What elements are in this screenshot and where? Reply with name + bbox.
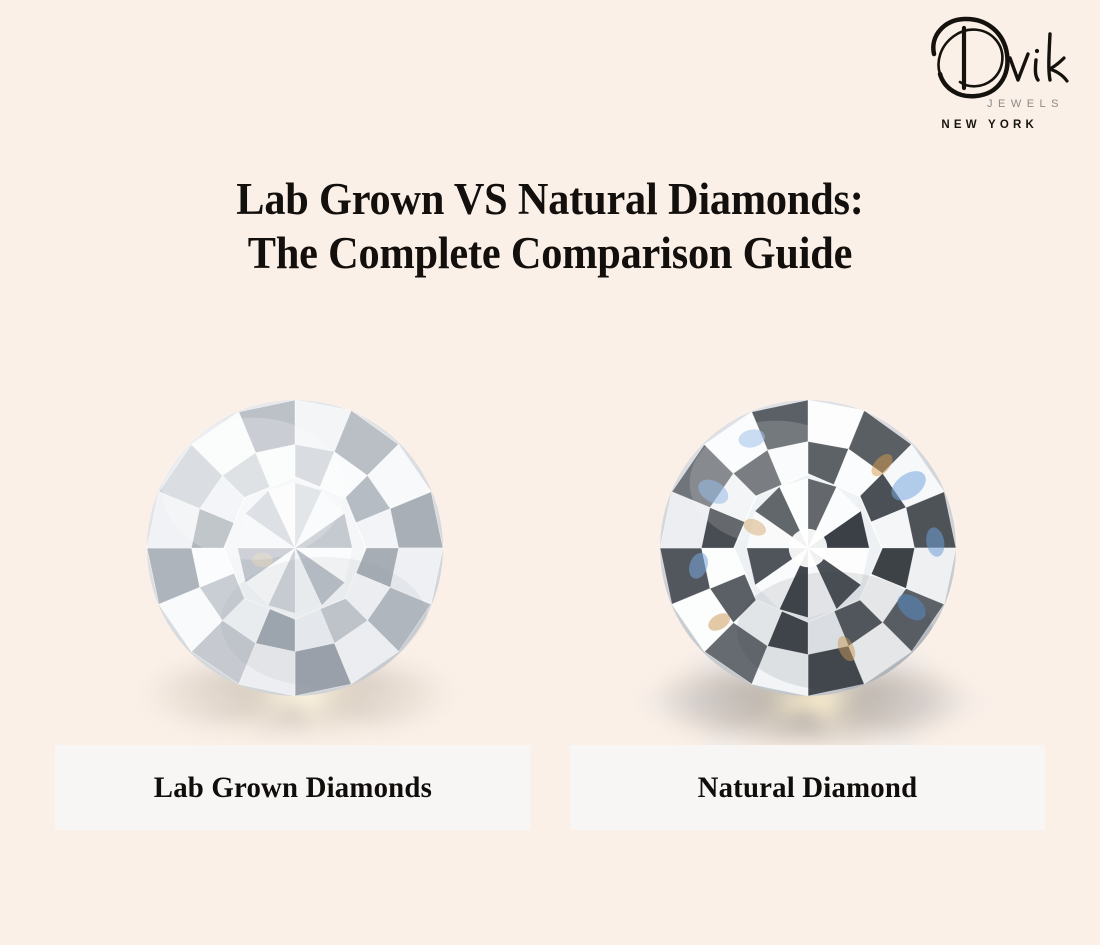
lab-grown-caption-label: Lab Grown Diamonds — [153, 771, 431, 805]
poster-canvas: JEWELS NEW YORK Lab Grown VS Natural Dia… — [0, 0, 1100, 945]
diamond-comparison-stage: Lab Grown Diamonds Natural Diamond — [0, 0, 1100, 945]
natural-gem-disc — [660, 400, 956, 696]
round-brilliant-facets-icon — [145, 400, 445, 696]
lab-grown-gem-disc — [145, 400, 445, 696]
natural-caption-bar: Natural Diamond — [570, 745, 1045, 830]
lab-grown-caption-bar: Lab Grown Diamonds — [55, 745, 530, 830]
natural-caption-label: Natural Diamond — [698, 771, 918, 805]
lab-grown-diamond-image — [145, 400, 445, 696]
round-brilliant-facets-icon — [660, 400, 956, 696]
natural-diamond-image — [660, 400, 956, 696]
